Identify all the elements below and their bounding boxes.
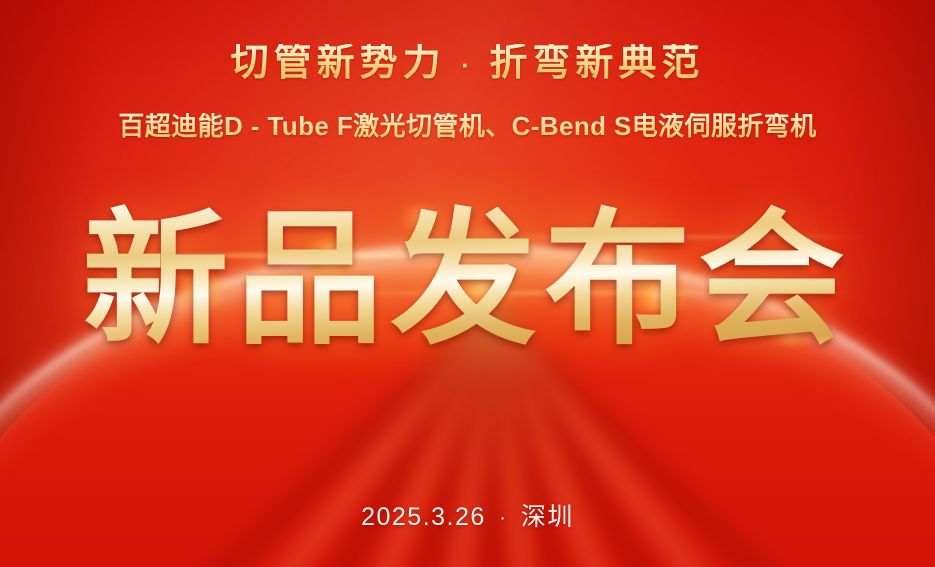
- headline-left-phrase: 切管新势力: [231, 42, 446, 84]
- headline-right-phrase: 折弯新典范: [489, 42, 704, 84]
- poster-subheadline: 百超迪能D - Tube F激光切管机、C-Bend S电液伺服折弯机: [0, 113, 935, 139]
- footer-separator-dot: ·: [494, 507, 512, 529]
- poster-content: 切管新势力 · 折弯新典范 百超迪能D - Tube F激光切管机、C-Bend…: [0, 0, 935, 567]
- poster-headline: 切管新势力 · 折弯新典范: [0, 44, 935, 82]
- event-date: 2025.3.26: [361, 503, 486, 531]
- main-title-block: 新品发布会: [0, 196, 935, 364]
- main-title-text: 新品发布会: [0, 196, 935, 364]
- event-city: 深圳: [521, 503, 574, 531]
- poster-footer: 2025.3.26 · 深圳: [0, 505, 935, 530]
- headline-separator-dot: ·: [461, 50, 474, 80]
- event-poster: 切管新势力 · 折弯新典范 百超迪能D - Tube F激光切管机、C-Bend…: [0, 0, 935, 567]
